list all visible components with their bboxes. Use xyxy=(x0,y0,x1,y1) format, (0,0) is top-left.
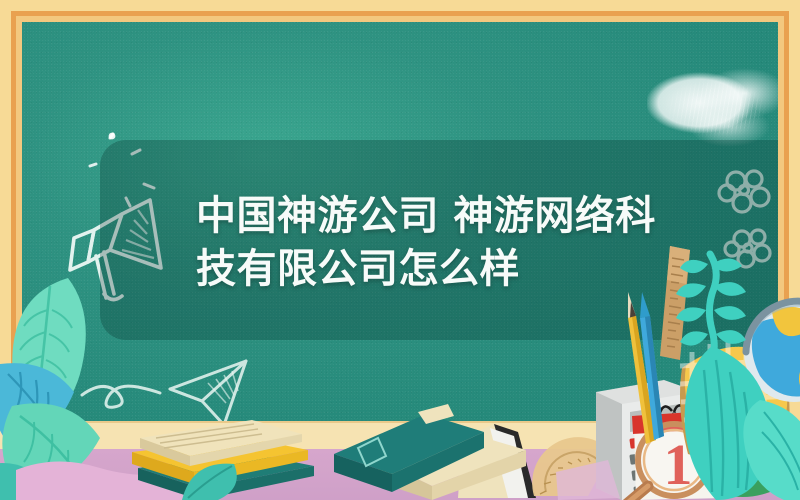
leaf-small-left xyxy=(178,460,248,500)
leaf-cluster-right xyxy=(664,250,800,500)
props-layer: 64 xyxy=(0,0,800,500)
illustration-canvas: 中国神游公司 神游网络科 技有限公司怎么样 xyxy=(0,0,800,500)
paper-sliver-right xyxy=(556,452,626,500)
